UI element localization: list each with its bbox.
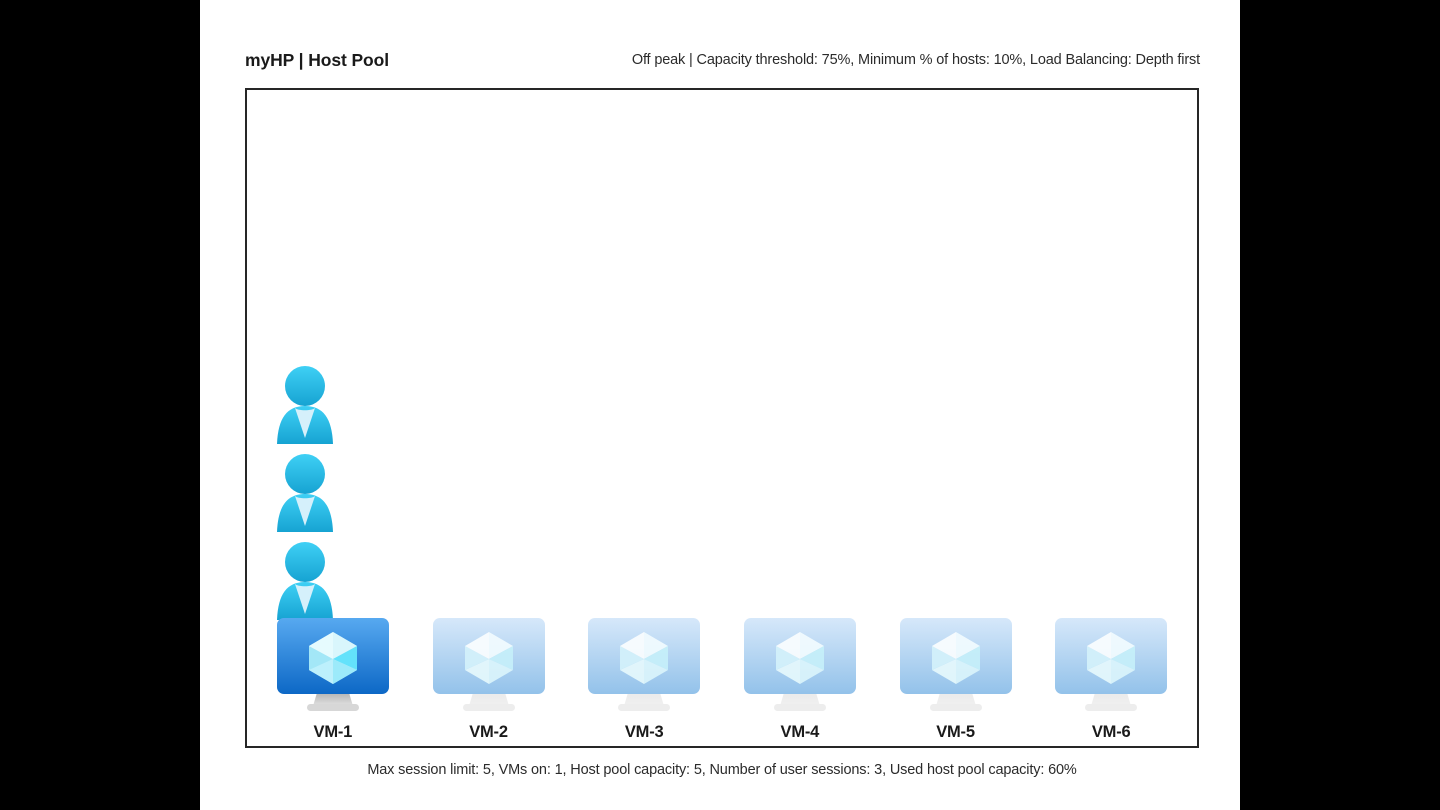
vm-label: VM-3 bbox=[625, 724, 664, 741]
header: myHP | Host Pool Off peak | Capacity thr… bbox=[245, 50, 1200, 76]
vm-cell-6[interactable]: VM-6 bbox=[1033, 616, 1189, 741]
vm-label: VM-4 bbox=[781, 724, 820, 741]
vm-label: VM-5 bbox=[936, 724, 975, 741]
monitor-vm-icon[interactable] bbox=[1047, 616, 1175, 719]
screenshot-stage: myHP | Host Pool Off peak | Capacity thr… bbox=[0, 0, 1440, 810]
host-pool-diagram-frame: VM-1 bbox=[245, 88, 1199, 748]
vm-cell-3[interactable]: VM-3 bbox=[566, 616, 722, 741]
vm-row: VM-1 bbox=[247, 586, 1197, 746]
vm-cell-4[interactable]: VM-4 bbox=[722, 616, 878, 741]
monitor-vm-icon[interactable] bbox=[269, 616, 397, 719]
vm-label: VM-6 bbox=[1092, 724, 1131, 741]
slide-canvas: myHP | Host Pool Off peak | Capacity thr… bbox=[200, 0, 1240, 810]
vm-label: VM-2 bbox=[469, 724, 508, 741]
vm-cell-1[interactable]: VM-1 bbox=[255, 616, 411, 741]
vm-cell-5[interactable]: VM-5 bbox=[878, 616, 1034, 741]
monitor-vm-icon[interactable] bbox=[580, 616, 708, 719]
vm-cell-2[interactable]: VM-2 bbox=[411, 616, 567, 741]
monitor-vm-icon[interactable] bbox=[736, 616, 864, 719]
vm-label: VM-1 bbox=[314, 724, 353, 741]
monitor-vm-icon[interactable] bbox=[425, 616, 553, 719]
page-title: myHP | Host Pool bbox=[245, 50, 389, 71]
host-pool-status-caption: Max session limit: 5, VMs on: 1, Host po… bbox=[245, 762, 1199, 778]
person-icon bbox=[271, 450, 339, 536]
monitor-vm-icon[interactable] bbox=[892, 616, 1020, 719]
person-icon bbox=[271, 362, 339, 448]
host-pool-settings-text: Off peak | Capacity threshold: 75%, Mini… bbox=[632, 52, 1200, 68]
